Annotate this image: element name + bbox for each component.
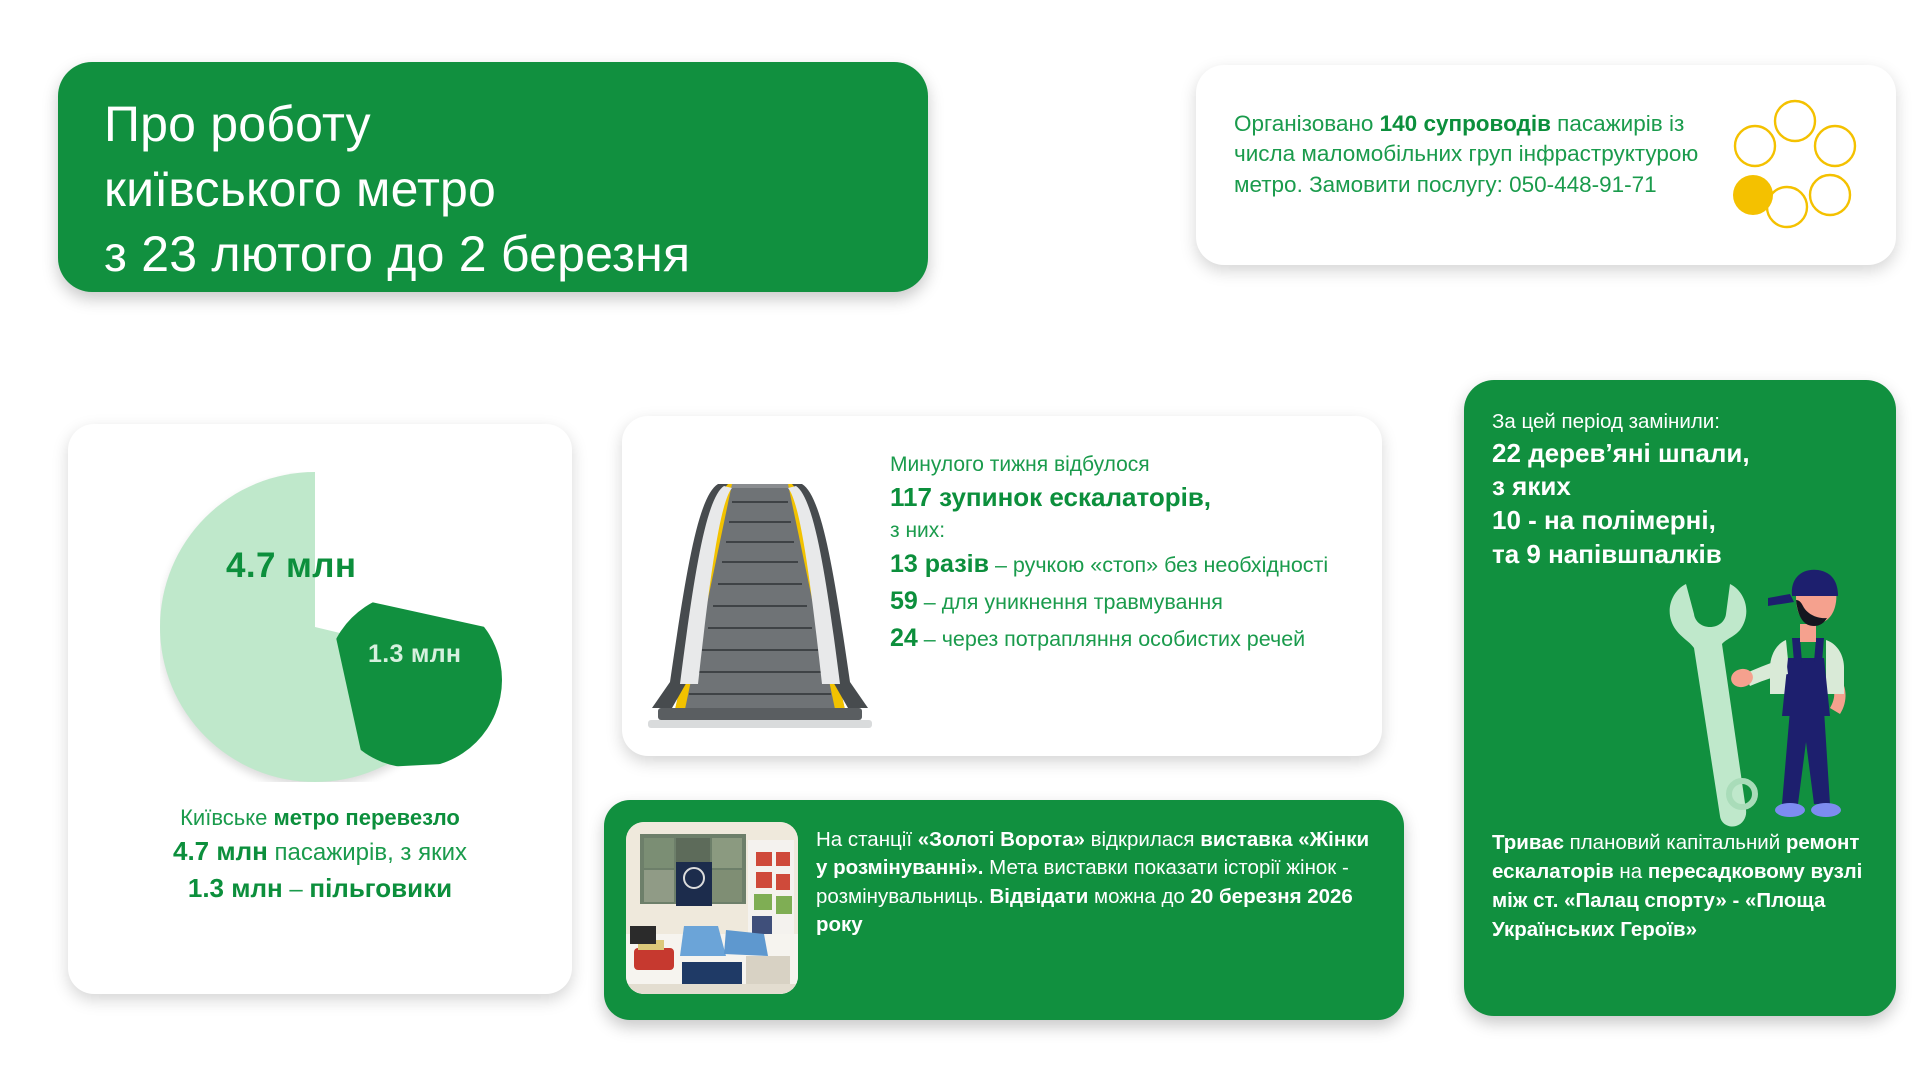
sleepers-line-3: 10 - на полімерні, — [1492, 504, 1882, 538]
repair-t1: плановий капітальний — [1564, 831, 1786, 854]
page-title: Про роботу київського метро з 23 лютого … — [58, 62, 928, 287]
pie-label-minor: 1.3 млн — [368, 640, 461, 669]
escalator-item-1-text: – для уникнення травмування — [918, 590, 1223, 614]
sleepers-head: За цей період замінили: — [1492, 408, 1882, 437]
infographic-canvas: Про роботу київського метро з 23 лютого … — [0, 0, 1920, 1080]
pie-caption-line-1: Київське метро перевезло — [68, 802, 572, 833]
escalator-item-1-num: 59 — [890, 587, 918, 615]
escort-text: Організовано 140 супроводів пасажирів із… — [1234, 109, 1704, 200]
escalator-sub: з них: — [890, 516, 1360, 545]
flower-circles-icon — [1732, 99, 1858, 231]
pie-caption-line-3: 1.3 млн – пільговики — [68, 870, 572, 907]
pie-cap-bold-3: 1.3 млн — [188, 873, 283, 903]
escort-service-card: Організовано 140 супроводів пасажирів із… — [1196, 65, 1896, 265]
sleepers-line-1: 22 дерев’яні шпали, — [1492, 437, 1882, 471]
escalator-stops-card: Минулого тижня відбулося 117 зупинок еск… — [622, 416, 1382, 756]
exh-p4: можна до — [1088, 885, 1190, 908]
escalator-item-2-num: 24 — [890, 624, 918, 652]
escalator-headline: 117 зупинок ескалаторів, — [890, 479, 1360, 515]
repair-b1: Триває — [1492, 831, 1564, 854]
pie-cap-bold-1: метро перевезло — [273, 805, 459, 830]
sleepers-repair-card: За цей період замінили: 22 дерев’яні шпа… — [1464, 380, 1896, 1016]
escalator-lead: Минулого тижня відбулося — [890, 450, 1360, 479]
sleepers-line-2: з яких — [1492, 470, 1882, 504]
repair-text: Триває плановий капітальний ремонт ескал… — [1492, 828, 1882, 944]
exhibition-card: На станції «Золоті Ворота» відкрилася ви… — [604, 800, 1404, 1020]
exhibition-text: На станції «Золоті Ворота» відкрилася ви… — [816, 826, 1386, 939]
escalator-item-0-text: – ручкою «стоп» без необхідності — [989, 553, 1328, 577]
pie-chart: 4.7 млн 1.3 млн — [140, 462, 500, 792]
pie-cap-bold-4: пільговики — [309, 873, 452, 903]
exh-station: «Золоті Ворота» — [918, 828, 1085, 851]
escort-count: 140 супроводів — [1380, 111, 1551, 136]
pie-cap-plain-1: Київське — [180, 805, 273, 830]
repair-t2: на — [1614, 860, 1648, 883]
escort-line-plain: Організовано — [1234, 111, 1380, 136]
pie-cap-plain-2: пасажирів, з яких — [268, 839, 467, 866]
exh-visit: Відвідати — [989, 885, 1088, 908]
escalator-item-2: 24 – через потрапляння особистих речей — [890, 621, 1360, 656]
passenger-pie-card: 4.7 млн 1.3 млн Київське метро перевезло… — [68, 424, 572, 994]
escalator-text: Минулого тижня відбулося 117 зупинок еск… — [890, 450, 1360, 656]
escalator-item-0: 13 разів – ручкою «стоп» без необхідност… — [890, 547, 1360, 582]
pie-cap-bold-2: 4.7 млн — [173, 836, 268, 866]
pie-caption: Київське метро перевезло 4.7 млн пасажир… — [68, 802, 572, 907]
sleepers-text: За цей період замінили: 22 дерев’яні шпа… — [1492, 408, 1882, 572]
exhibition-photo — [626, 822, 798, 994]
title-banner: Про роботу київського метро з 23 лютого … — [58, 62, 928, 292]
escalator-photo — [640, 432, 880, 732]
exh-p2: відкрилася — [1085, 828, 1200, 851]
worker-with-wrench-icon — [1650, 562, 1880, 832]
pie-cap-dash: – — [283, 876, 310, 903]
pie-caption-line-2: 4.7 млн пасажирів, з яких — [68, 833, 572, 870]
escalator-item-2-text: – через потрапляння особистих речей — [918, 627, 1305, 651]
escalator-item-0-num: 13 разів — [890, 550, 989, 578]
pie-label-major: 4.7 млн — [226, 546, 356, 586]
escalator-item-1: 59 – для уникнення травмування — [890, 584, 1360, 619]
exh-p1: На станції — [816, 828, 918, 851]
